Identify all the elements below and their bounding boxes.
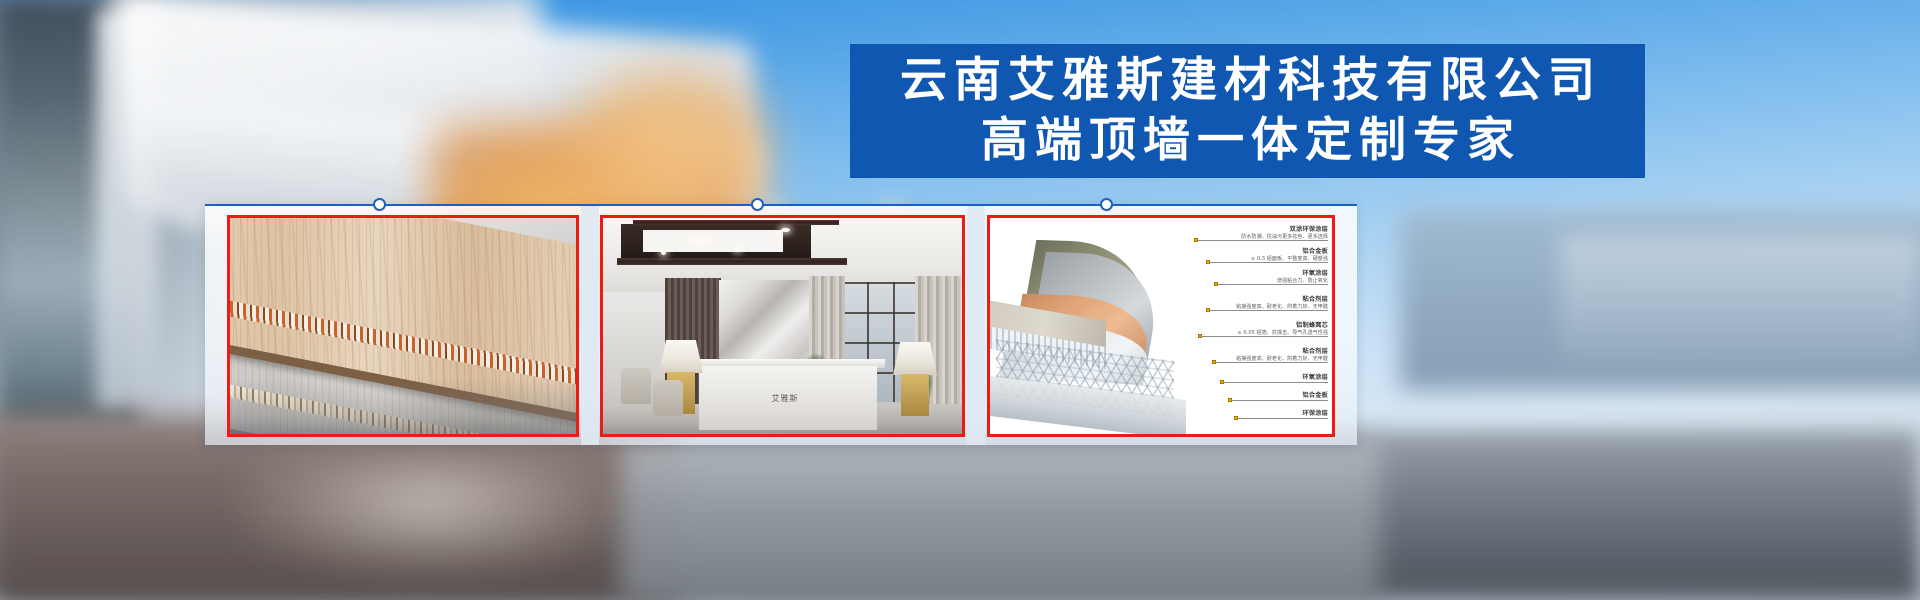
selection-handle-center[interactable]	[751, 198, 764, 211]
company-slogan-line: 高端顶墙一体定制专家	[974, 111, 1521, 171]
diagram-callout-0: 双涂环保涂层 防水防潮、抗油污更多花色、更多选择	[1156, 226, 1328, 241]
panel2-lamp-base-right	[901, 374, 929, 416]
panel1-shadow	[230, 378, 576, 434]
panel-gap-1	[581, 205, 599, 445]
diagram-leader-1	[1210, 262, 1328, 263]
diagram-dot-5	[1212, 360, 1216, 364]
diagram-leader-5	[1216, 362, 1328, 363]
diagram-leader-3	[1210, 310, 1328, 311]
company-name-line: 云南艾雅斯建材科技有限公司	[893, 51, 1602, 111]
diagram-dot-4	[1198, 334, 1202, 338]
panel2-ceiling-light-2	[735, 246, 740, 251]
diagram-callout-7-title: 铝合金板	[1156, 392, 1328, 400]
panel2-chair-1	[621, 368, 651, 404]
diagram-callout-3: 粘合剂层 粘接强度高、耐老化、附着力好、无甲醛	[1156, 296, 1328, 311]
background-ground-mid	[620, 440, 1380, 600]
diagram-callout-6-title: 环氧涂层	[1156, 374, 1328, 382]
diagram-callout-7: 铝合金板	[1156, 392, 1328, 400]
diagram-leader-6	[1224, 382, 1328, 383]
diagram-callout-8-title: 环保涂层	[1156, 410, 1328, 418]
diagram-dot-8	[1234, 416, 1238, 420]
diagram-dot-6	[1220, 380, 1224, 384]
panel-gap-2	[967, 205, 985, 445]
selection-handle-right[interactable]	[1100, 198, 1113, 211]
diagram-callout-8: 环保涂层	[1156, 410, 1328, 418]
diagram-dot-1	[1206, 260, 1210, 264]
diagram-leader-7	[1232, 400, 1328, 401]
panel2-chair-2	[653, 380, 683, 416]
product-panel-interior[interactable]: 艾雅斯	[600, 215, 965, 437]
diagram-dot-7	[1228, 398, 1232, 402]
diagram-dot-3	[1206, 308, 1210, 312]
diagram-callout-4-title: 铝制蜂窝芯	[1156, 322, 1328, 330]
product-image-strip: 艾雅斯 双涂环保涂层 防水防潮、抗油污更多花色、更多选择 铝合金板 ≥ 0.3	[205, 205, 1357, 445]
diagram-callout-2-title: 环氧涂层	[1156, 270, 1328, 278]
diagram-dot-2	[1214, 282, 1218, 286]
panel2-ceiling-beam-1	[617, 258, 847, 265]
diagram-callout-2: 环氧涂层 增强粘合力、防止氧化	[1156, 270, 1328, 285]
headline-banner: 云南艾雅斯建材科技有限公司 高端顶墙一体定制专家	[850, 44, 1645, 178]
diagram-callout-6: 环氧涂层	[1156, 374, 1328, 382]
diagram-callout-1: 铝合金板 ≥ 0.3 铝面板、平整度高、硬度强	[1156, 248, 1328, 263]
diagram-callout-5-title: 粘合剂层	[1156, 348, 1328, 356]
panel2-ceiling-light-4	[781, 228, 790, 232]
panel2-counter-logo: 艾雅斯	[755, 393, 815, 404]
selection-handle-left[interactable]	[373, 198, 386, 211]
diagram-callout-4: 铝制蜂窝芯 ≥ 0.05 铝箔、抗撞击、导气孔透气性强	[1156, 322, 1328, 337]
diagram-callout-list: 双涂环保涂层 防水防潮、抗油污更多花色、更多选择 铝合金板 ≥ 0.3 铝面板、…	[1156, 218, 1332, 434]
product-panel-layer-diagram[interactable]: 双涂环保涂层 防水防潮、抗油污更多花色、更多选择 铝合金板 ≥ 0.3 铝面板、…	[987, 215, 1335, 437]
diagram-leader-2	[1218, 284, 1328, 285]
diagram-leader-4	[1202, 336, 1328, 337]
product-panel-honeycomb[interactable]	[227, 215, 579, 437]
diagram-callout-1-title: 铝合金板	[1156, 248, 1328, 256]
diagram-callout-5: 粘合剂层 粘接强度高、耐老化、附着力好、无甲醛	[1156, 348, 1328, 363]
panel2-ceiling-light-box	[643, 230, 783, 252]
diagram-callout-3-title: 粘合剂层	[1156, 296, 1328, 304]
background-right-building-2	[1560, 235, 1920, 365]
diagram-leader-0	[1198, 240, 1328, 241]
diagram-dot-0	[1194, 238, 1198, 242]
diagram-leader-8	[1238, 418, 1328, 419]
panel2-ceiling-light-1	[689, 238, 711, 244]
panel2-lamp-shade-left	[659, 340, 703, 373]
panel2-ceiling-light-3	[661, 250, 666, 255]
panel2-ceiling-beam-2	[633, 220, 839, 225]
diagram-callout-0-title: 双涂环保涂层	[1156, 226, 1328, 234]
panel2-lamp-shade-right	[893, 342, 937, 375]
background-ground-reflection	[240, 455, 620, 575]
